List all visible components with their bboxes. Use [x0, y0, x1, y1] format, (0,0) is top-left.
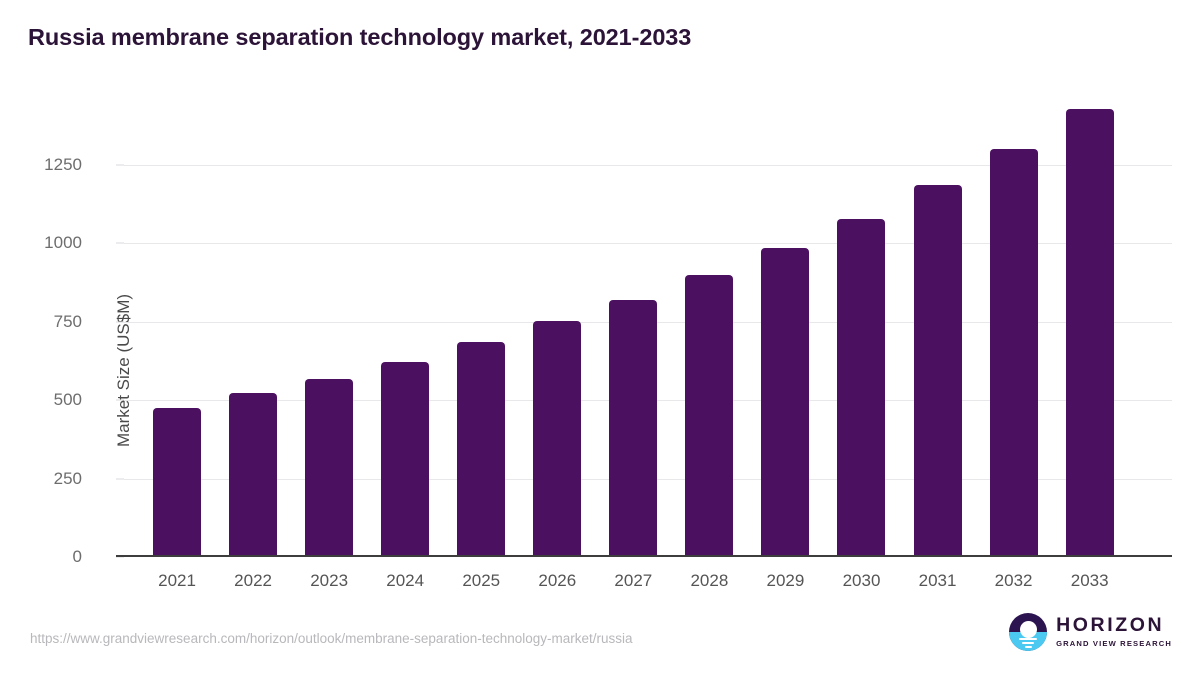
y-tick-label: 1000: [2, 233, 82, 253]
horizon-logo: HORIZON GRAND VIEW RESEARCH: [1009, 613, 1172, 651]
bar[interactable]: [305, 379, 353, 557]
page-title: Russia membrane separation technology ma…: [28, 24, 691, 51]
y-tick-mark: [116, 321, 124, 322]
bar[interactable]: [381, 362, 429, 557]
bar-slot: 2023: [291, 100, 367, 557]
y-tick-label: 0: [2, 547, 82, 567]
bar[interactable]: [457, 342, 505, 557]
logo-subtitle: GRAND VIEW RESEARCH: [1056, 640, 1172, 648]
y-tick-label: 250: [2, 469, 82, 489]
bar[interactable]: [153, 408, 201, 557]
bar[interactable]: [914, 185, 962, 557]
logo-wordmark: HORIZON: [1056, 616, 1172, 636]
x-tick-label: 2026: [519, 557, 595, 591]
bar[interactable]: [837, 219, 885, 557]
x-tick-label: 2029: [747, 557, 823, 591]
x-tick-label: 2027: [595, 557, 671, 591]
bar-slot: 2028: [671, 100, 747, 557]
logo-ray-1: [1019, 638, 1037, 640]
source-url[interactable]: https://www.grandviewresearch.com/horizo…: [30, 631, 633, 646]
bar-slot: 2027: [595, 100, 671, 557]
bar-slot: 2024: [367, 100, 443, 557]
y-tick-mark: [116, 243, 124, 244]
y-tick-mark: [116, 164, 124, 165]
y-tick-mark: [116, 400, 124, 401]
bar[interactable]: [761, 248, 809, 557]
x-tick-label: 2028: [671, 557, 747, 591]
logo-text: HORIZON GRAND VIEW RESEARCH: [1056, 616, 1172, 647]
plot-area: Market Size (US$M) 025050075010001250 20…: [124, 100, 1172, 557]
y-tick-label: 500: [2, 390, 82, 410]
y-tick-label: 1250: [2, 155, 82, 175]
bar-slot: 2025: [443, 100, 519, 557]
bar-slot: 2022: [215, 100, 291, 557]
horizon-sun-circle-icon: [1009, 613, 1047, 651]
x-axis-line: [116, 555, 1172, 557]
bar[interactable]: [990, 149, 1038, 557]
chart-page: Russia membrane separation technology ma…: [0, 0, 1200, 675]
bar[interactable]: [533, 321, 581, 557]
bar-slot: 2021: [139, 100, 215, 557]
bar[interactable]: [229, 393, 277, 557]
bar-slot: 2029: [747, 100, 823, 557]
y-tick-mark: [116, 478, 124, 479]
bars-group: 2021202220232024202520262027202820292030…: [124, 100, 1172, 557]
logo-sun-shape: [1020, 621, 1037, 638]
bar[interactable]: [609, 300, 657, 557]
x-tick-label: 2021: [139, 557, 215, 591]
x-tick-label: 2025: [443, 557, 519, 591]
bar-slot: 2026: [519, 100, 595, 557]
bar[interactable]: [1066, 109, 1114, 557]
bar-slot: 2031: [900, 100, 976, 557]
x-tick-label: 2032: [976, 557, 1052, 591]
logo-ray-3: [1025, 646, 1032, 648]
bar-slot: 2030: [823, 100, 899, 557]
x-tick-label: 2023: [291, 557, 367, 591]
logo-ray-2: [1022, 642, 1034, 644]
x-tick-label: 2030: [823, 557, 899, 591]
bar-slot: 2032: [976, 100, 1052, 557]
x-tick-label: 2031: [900, 557, 976, 591]
x-tick-label: 2024: [367, 557, 443, 591]
bar-slot: 2033: [1052, 100, 1128, 557]
y-tick-label: 750: [2, 312, 82, 332]
bar[interactable]: [685, 275, 733, 557]
x-tick-label: 2033: [1052, 557, 1128, 591]
x-tick-label: 2022: [215, 557, 291, 591]
